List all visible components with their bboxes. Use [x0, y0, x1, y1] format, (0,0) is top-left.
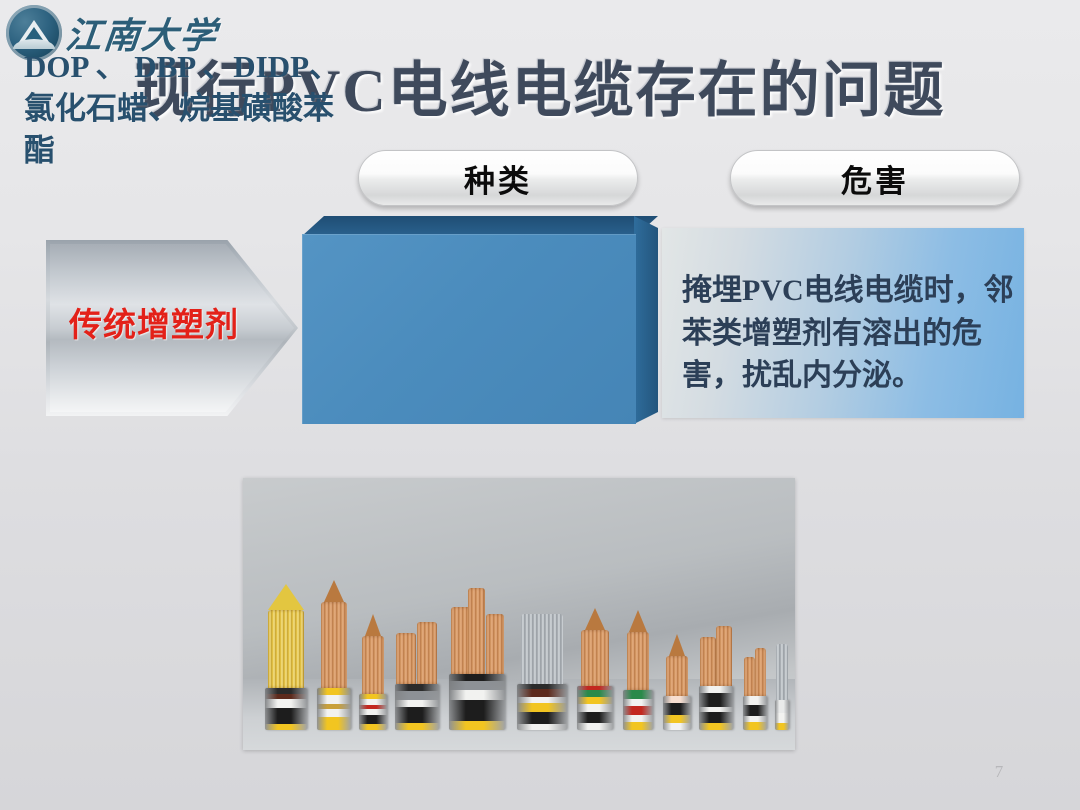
cable-sample — [449, 588, 505, 730]
cable-sample — [265, 610, 307, 730]
harm-header-label: 危害 — [841, 156, 909, 201]
cable-sample — [517, 614, 567, 730]
cable-conductor — [468, 588, 485, 674]
cable-conductor — [716, 626, 732, 686]
category-3d-box — [302, 216, 658, 424]
cable-conductor — [521, 614, 563, 684]
slide-canvas: 江南大学 现行PVC电线电缆存在的问题 种类 危害 传统增塑剂 DOP 、 DB… — [0, 0, 1080, 810]
cable-conductor — [627, 632, 650, 690]
page-number: 7 — [984, 762, 1014, 782]
cable-conductor — [776, 644, 788, 700]
cable-conductor — [417, 622, 437, 684]
cable-conductor — [321, 602, 347, 688]
cable-conductor — [581, 630, 608, 686]
cable-sample — [775, 644, 789, 730]
cable-conductor — [486, 614, 504, 674]
cable-conductor — [700, 637, 716, 686]
cable-sample — [577, 630, 613, 730]
box-right-bevel — [634, 216, 658, 424]
cable-conductor — [666, 656, 687, 696]
cable-sample — [663, 656, 691, 730]
cable-sample — [623, 632, 653, 730]
category-header-pill: 种类 — [358, 150, 638, 206]
harm-description-text: 掩埋PVC电线电缆时，邻苯类增塑剂有溶出的危害，扰乱内分泌。 — [682, 270, 1014, 398]
pvc-cable-photo — [243, 478, 795, 750]
cable-conductor — [744, 657, 755, 696]
cable-conductor — [362, 636, 383, 694]
cable-conductor — [396, 633, 416, 684]
cable-sample — [317, 602, 351, 730]
traditional-plasticizer-label: 传统增塑剂 — [54, 298, 254, 346]
cable-sample — [743, 648, 767, 730]
cable-conductor — [755, 648, 766, 696]
category-list-text: DOP 、 DBP 、DIDP、氯化石蜡、烷基磺酸苯酯 — [24, 46, 344, 172]
category-header-label: 种类 — [464, 156, 532, 201]
box-top-bevel — [302, 216, 658, 236]
cable-sample — [359, 636, 387, 730]
cable-sample — [395, 622, 439, 730]
cable-conductor — [268, 610, 305, 688]
harm-header-pill: 危害 — [730, 150, 1020, 206]
cable-sample — [699, 626, 733, 730]
box-front-face — [302, 234, 636, 424]
